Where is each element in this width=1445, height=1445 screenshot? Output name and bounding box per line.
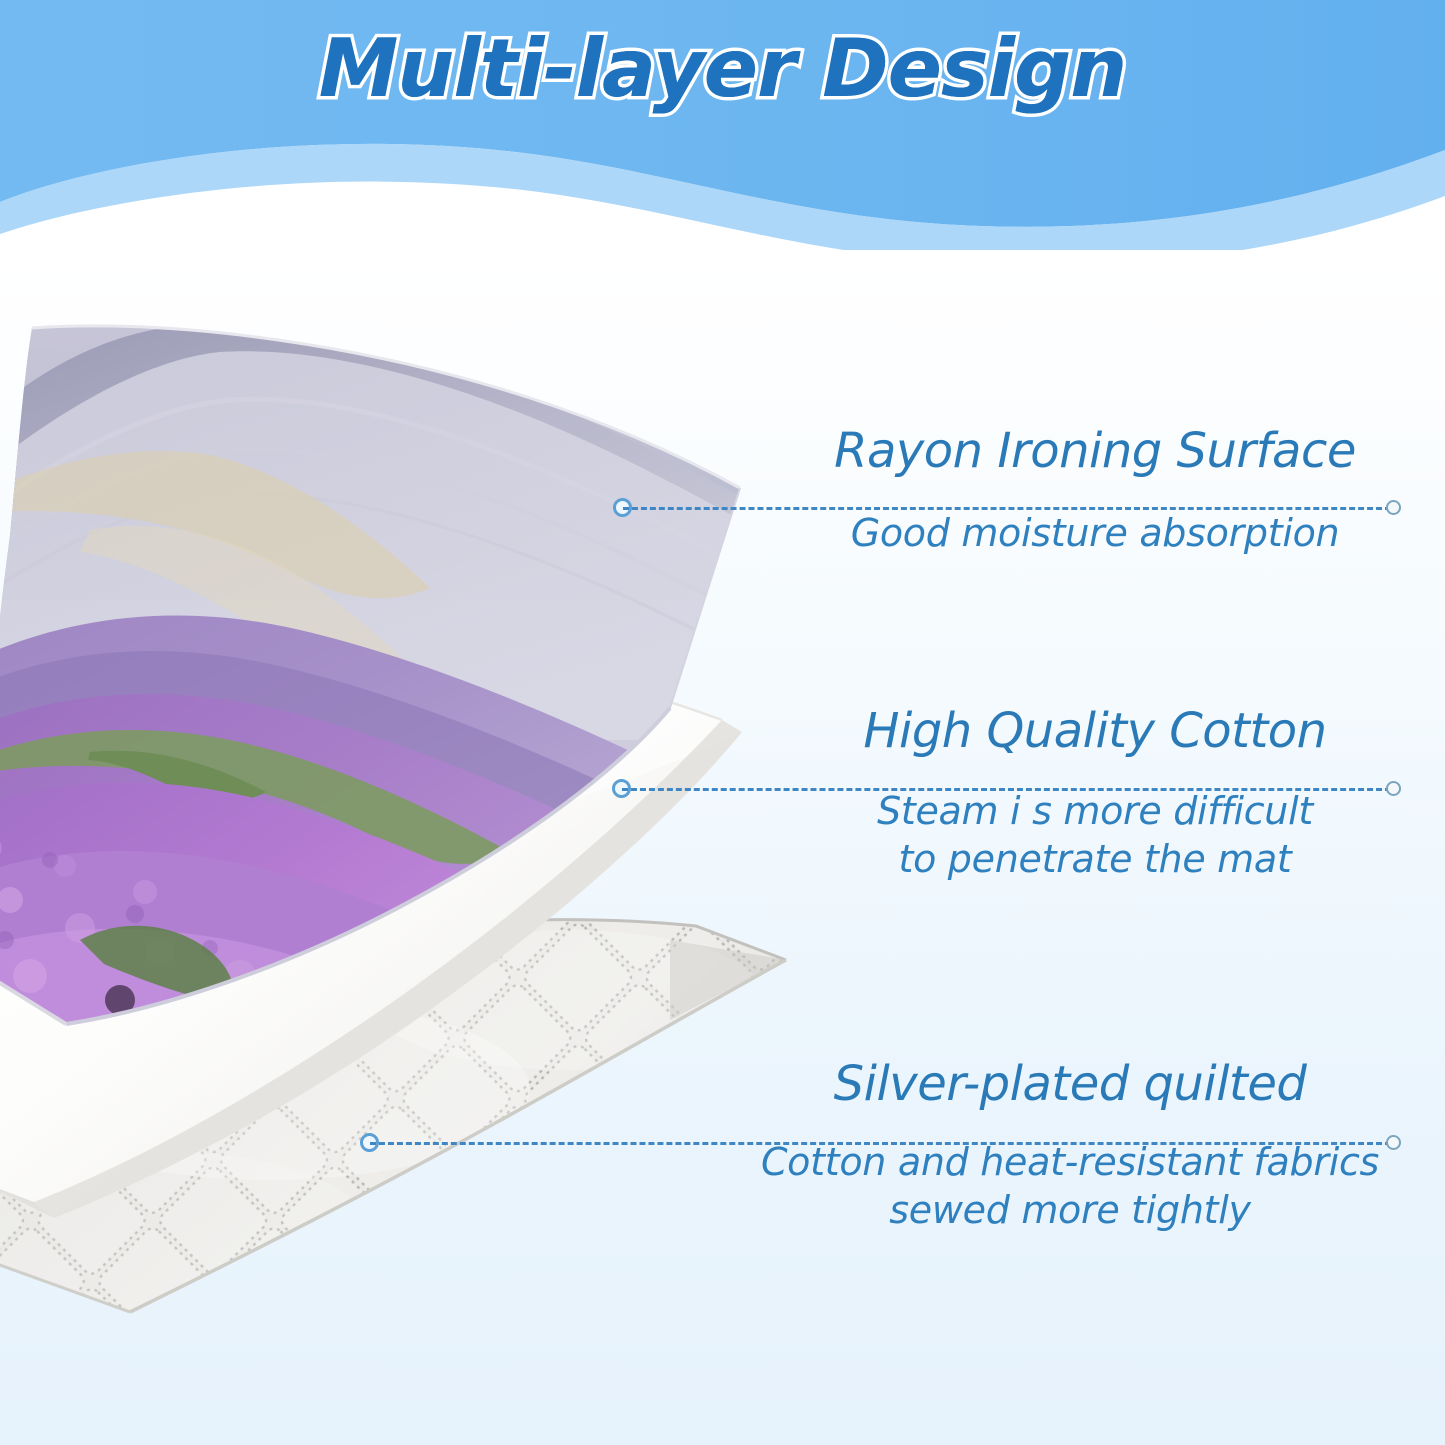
layer-stack-graphic <box>0 300 790 1360</box>
connector-high-quality-cotton <box>612 777 1401 801</box>
callout-subtext-line: sewed more tightly <box>745 1186 1395 1235</box>
connector-dashed-line <box>623 507 1391 510</box>
connector-dashed-line <box>622 788 1391 791</box>
connector-dashed-line <box>370 1142 1391 1145</box>
callout-title: Silver-plated quilted <box>745 1058 1395 1112</box>
callout-title: High Quality Cotton <box>795 705 1395 759</box>
connector-right-dot-icon <box>1386 781 1401 796</box>
callout-rayon-ironing-surface: Rayon Ironing Surface Good moisture abso… <box>795 425 1395 557</box>
connector-right-dot-icon <box>1386 500 1401 515</box>
connector-silver-plated-quilted <box>360 1131 1401 1155</box>
connector-right-dot-icon <box>1386 1135 1401 1150</box>
callout-subtext: Steam i s more difficult to penetrate th… <box>795 787 1395 884</box>
page-title-outline: Multi-layer Design <box>0 22 1445 115</box>
product-layer-stack <box>0 300 790 1360</box>
connector-rayon-ironing-surface <box>613 496 1401 520</box>
callout-title: Rayon Ironing Surface <box>795 425 1395 479</box>
callout-subtext-line: to penetrate the mat <box>795 835 1395 884</box>
header-banner: Multi-layer Design Multi-layer Design <box>0 0 1445 250</box>
